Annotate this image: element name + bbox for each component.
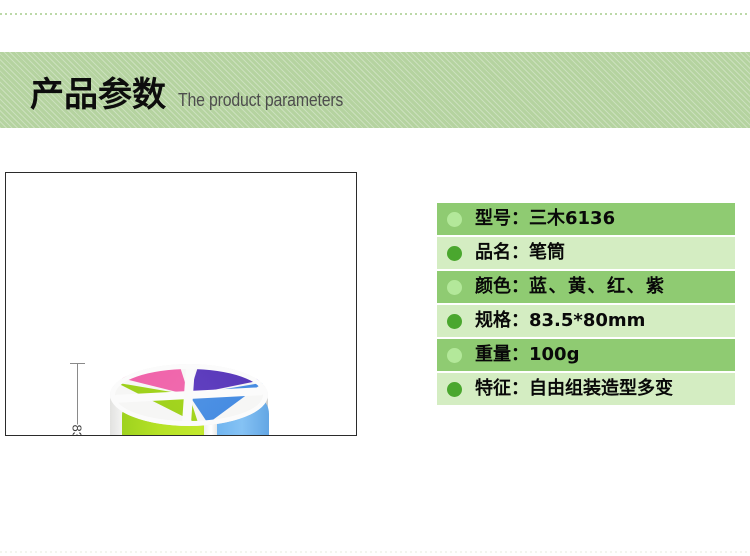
- spec-row-text: 重量：100g: [475, 346, 579, 364]
- spec-row-text: 规格：83.5*80mm: [475, 312, 645, 330]
- height-dimension-tick-top: [70, 363, 85, 364]
- spec-label: 品名：: [475, 242, 529, 263]
- banner-text-group: 产品参数 The product parameters: [30, 78, 366, 112]
- page-title: 产品参数: [30, 78, 166, 112]
- spec-value: 三木6136: [529, 208, 615, 229]
- spec-label: 颜色：: [475, 276, 529, 297]
- bullet-icon: [447, 382, 462, 397]
- spec-value: 笔筒: [529, 242, 565, 263]
- bottom-divider-rule: [0, 551, 750, 553]
- spec-row-text: 型号：三木6136: [475, 210, 615, 228]
- bullet-icon: [447, 246, 462, 261]
- page-subtitle: The product parameters: [178, 91, 343, 109]
- spec-row-weight: 重量：100g: [437, 339, 735, 371]
- spec-row-model: 型号：三木6136: [437, 203, 735, 235]
- product-photo-frame: 83.5mm 80mm: [5, 172, 357, 436]
- spec-value: 100g: [529, 344, 579, 365]
- rim-outer-ring: [110, 364, 268, 426]
- spec-label: 规格：: [475, 310, 529, 331]
- spec-row-text: 特征：自由组装造型多变: [475, 380, 673, 398]
- spec-row-text: 颜色：蓝、黄、红、紫: [475, 278, 666, 296]
- spec-row-feature: 特征：自由组装造型多变: [437, 373, 735, 405]
- specification-table: 型号：三木6136 品名：笔筒 颜色：蓝、黄、红、紫 规格：83.5*80mm …: [437, 203, 735, 407]
- spec-label: 特征：: [475, 378, 529, 399]
- spec-value: 83.5*80mm: [529, 310, 645, 331]
- height-dimension-label: 83.5mm: [67, 425, 88, 437]
- spec-row-text: 品名：笔筒: [475, 244, 565, 262]
- spec-label: 型号：: [475, 208, 529, 229]
- spec-value: 蓝、黄、红、紫: [529, 276, 666, 297]
- bullet-icon: [447, 314, 462, 329]
- spec-row-size: 规格：83.5*80mm: [437, 305, 735, 337]
- bullet-icon: [447, 280, 462, 295]
- section-header-banner: 产品参数 The product parameters: [0, 52, 750, 128]
- spec-row-color: 颜色：蓝、黄、红、紫: [437, 271, 735, 303]
- pen-holder-illustration: [98, 358, 280, 436]
- spec-row-product-name: 品名：笔筒: [437, 237, 735, 269]
- top-divider-rule: [0, 13, 750, 15]
- spec-label: 重量：: [475, 344, 529, 365]
- bullet-icon: [447, 348, 462, 363]
- bullet-icon: [447, 212, 462, 227]
- spec-value: 自由组装造型多变: [529, 378, 673, 399]
